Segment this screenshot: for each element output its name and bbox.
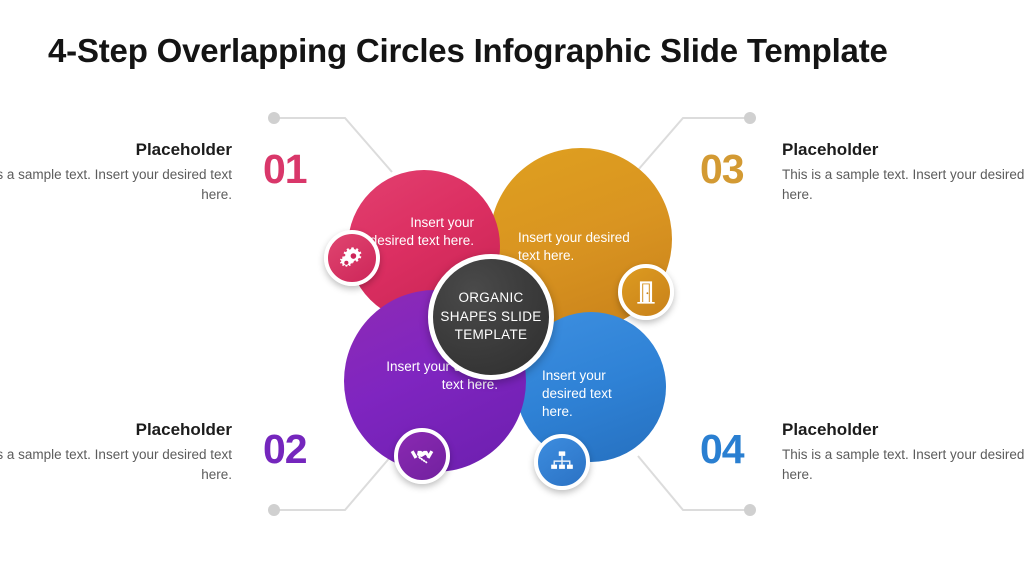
step-circle-text-04: Insert your desired text here.	[516, 353, 666, 422]
center-hub-label: ORGANIC SHAPES SLIDE TEMPLATE	[440, 289, 541, 345]
center-hub[interactable]: ORGANIC SHAPES SLIDE TEMPLATE	[428, 254, 554, 380]
step-icon-badge-02[interactable]	[394, 428, 450, 484]
gears-icon	[339, 245, 365, 271]
circle-cluster: Insert your desired text here. Insert yo…	[0, 0, 1024, 576]
step-icon-badge-04[interactable]	[534, 434, 590, 490]
center-hub-line-2: SHAPES SLIDE	[440, 309, 541, 324]
handshake-icon	[409, 443, 435, 469]
center-hub-line-1: ORGANIC	[458, 290, 523, 305]
step-circle-text-03: Insert your desired text here.	[490, 213, 672, 265]
door-icon	[633, 279, 659, 305]
step-icon-badge-01[interactable]	[324, 230, 380, 286]
step-icon-badge-03[interactable]	[618, 264, 674, 320]
infographic-slide: 4-Step Overlapping Circles Infographic S…	[0, 0, 1024, 576]
org-chart-icon	[549, 449, 575, 475]
center-hub-line-3: TEMPLATE	[455, 327, 528, 342]
